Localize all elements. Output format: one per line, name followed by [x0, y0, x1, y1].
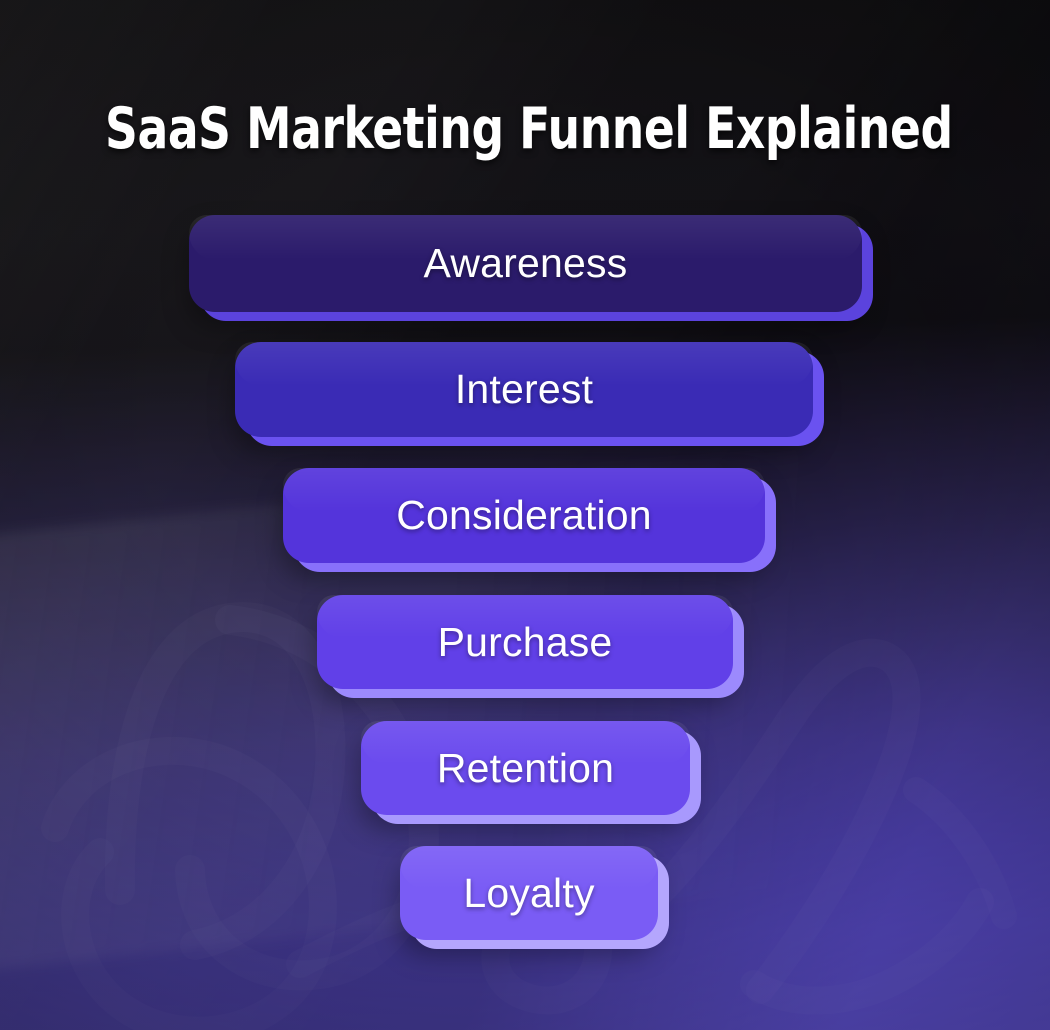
funnel-stage-label: Awareness: [424, 243, 628, 284]
funnel-stage-retention[interactable]: Retention: [361, 721, 690, 815]
funnel-stage-label: Retention: [437, 748, 614, 789]
funnel-stage-label: Interest: [455, 369, 593, 410]
funnel-stage-label: Consideration: [396, 495, 652, 536]
funnel-stage-consideration[interactable]: Consideration: [283, 468, 765, 563]
funnel-stage-label: Loyalty: [463, 873, 594, 914]
funnel-chart: Awareness Interest Consideration Purchas…: [0, 0, 1050, 1030]
funnel-stage-purchase[interactable]: Purchase: [317, 595, 733, 689]
funnel-stage-interest[interactable]: Interest: [235, 342, 813, 437]
funnel-stage-label: Purchase: [438, 622, 613, 663]
funnel-stage-awareness[interactable]: Awareness: [189, 215, 862, 312]
infographic-canvas: SaaS Marketing Funnel Explained Awarenes…: [0, 0, 1050, 1030]
funnel-stage-loyalty[interactable]: Loyalty: [400, 846, 658, 940]
